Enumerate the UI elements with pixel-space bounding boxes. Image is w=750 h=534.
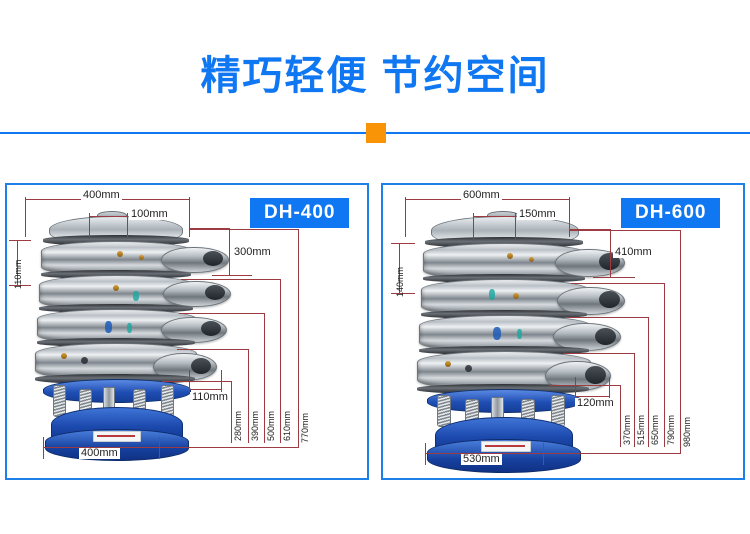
dim-line bbox=[229, 228, 230, 275]
dim-line bbox=[280, 279, 281, 443]
dim-line bbox=[620, 385, 621, 447]
dim-label-top-outer-width: 600mm bbox=[461, 190, 502, 201]
dim-tick bbox=[391, 243, 415, 244]
dim-line bbox=[89, 216, 127, 217]
dim-tick bbox=[575, 377, 576, 399]
dim-label-deck-height: 140mm bbox=[395, 267, 405, 297]
product-spec-page: 精巧轻便 节约空间 DH-400 bbox=[0, 0, 750, 534]
model-badge-dh600: DH-600 bbox=[621, 198, 720, 228]
dim-label-stack-height-5: 770mm bbox=[300, 413, 310, 443]
dim-tick bbox=[221, 370, 222, 392]
dim-label-stack-height-4: 790mm bbox=[666, 415, 676, 445]
dim-line bbox=[473, 216, 515, 217]
dim-tick bbox=[25, 197, 26, 237]
model-badge-dh400: DH-400 bbox=[250, 198, 349, 228]
dim-tick bbox=[127, 213, 128, 239]
sieve-machine-illustration-dh600 bbox=[401, 211, 641, 461]
dim-label-base-width: 530mm bbox=[461, 454, 502, 465]
dim-label-stack-height-4: 610mm bbox=[282, 411, 292, 441]
dim-tick bbox=[543, 443, 544, 465]
divider-accent-square bbox=[366, 123, 386, 143]
dim-tick bbox=[89, 213, 90, 239]
dim-line bbox=[563, 353, 635, 354]
dim-tick bbox=[159, 437, 160, 459]
header: 精巧轻便 节约空间 bbox=[0, 0, 750, 146]
dim-line bbox=[298, 229, 299, 447]
dim-tick bbox=[425, 443, 426, 465]
dim-tick bbox=[405, 197, 406, 237]
dim-line bbox=[189, 229, 299, 230]
dim-line bbox=[212, 275, 252, 276]
dim-label-outlet-width: 120mm bbox=[575, 398, 616, 409]
dim-label-upper-right-depth: 300mm bbox=[232, 247, 273, 258]
dim-tick bbox=[189, 197, 190, 237]
dim-line bbox=[181, 279, 281, 280]
dim-label-base-width: 400mm bbox=[79, 448, 120, 459]
dim-line bbox=[179, 313, 265, 314]
dim-line bbox=[189, 389, 221, 390]
dim-line bbox=[567, 317, 649, 318]
dim-label-stack-height-2: 515mm bbox=[636, 415, 646, 445]
dim-tick bbox=[515, 213, 516, 241]
product-panel-dh600: DH-600 bbox=[381, 183, 745, 480]
dim-tick bbox=[569, 197, 570, 237]
dim-line bbox=[664, 283, 665, 447]
dim-label-top-outer-width: 400mm bbox=[81, 190, 122, 201]
dim-label-stack-height-5: 980mm bbox=[682, 417, 692, 447]
dim-label-top-inner-width: 100mm bbox=[129, 209, 170, 220]
dim-line bbox=[177, 349, 249, 350]
dim-tick bbox=[43, 437, 44, 459]
dim-line bbox=[610, 229, 611, 277]
title-divider bbox=[0, 120, 750, 146]
dim-label-stack-height-2: 390mm bbox=[250, 411, 260, 441]
dim-label-stack-height-3: 500mm bbox=[266, 411, 276, 441]
dim-line bbox=[248, 349, 249, 443]
dim-line bbox=[231, 381, 232, 443]
dim-label-outlet-width: 110mm bbox=[190, 392, 230, 403]
dim-line bbox=[680, 230, 681, 453]
dim-tick bbox=[609, 377, 610, 399]
dim-label-stack-height-1: 370mm bbox=[622, 415, 632, 445]
dim-label-top-inner-width: 150mm bbox=[517, 209, 558, 220]
dim-line bbox=[159, 447, 299, 448]
dim-label-deck-height: 110mm bbox=[13, 260, 23, 289]
product-panels: DH-400 bbox=[0, 183, 750, 483]
product-panel-dh400: DH-400 bbox=[5, 183, 369, 480]
sieve-machine-illustration-dh400 bbox=[21, 211, 251, 461]
dim-tick bbox=[9, 240, 31, 241]
dim-line bbox=[648, 317, 649, 447]
dim-tick bbox=[473, 213, 474, 241]
dim-line bbox=[569, 230, 681, 231]
dim-label-stack-height-3: 650mm bbox=[650, 415, 660, 445]
dim-line bbox=[593, 277, 635, 278]
dim-line bbox=[264, 313, 265, 443]
dim-line bbox=[543, 453, 681, 454]
dim-tick bbox=[189, 370, 190, 392]
dim-label-upper-right-depth: 410mm bbox=[613, 247, 654, 258]
dim-line bbox=[549, 385, 621, 386]
dim-line bbox=[571, 283, 665, 284]
dim-line bbox=[634, 353, 635, 447]
dim-label-stack-height-1: 280mm bbox=[233, 411, 243, 441]
page-title: 精巧轻便 节约空间 bbox=[0, 52, 750, 100]
